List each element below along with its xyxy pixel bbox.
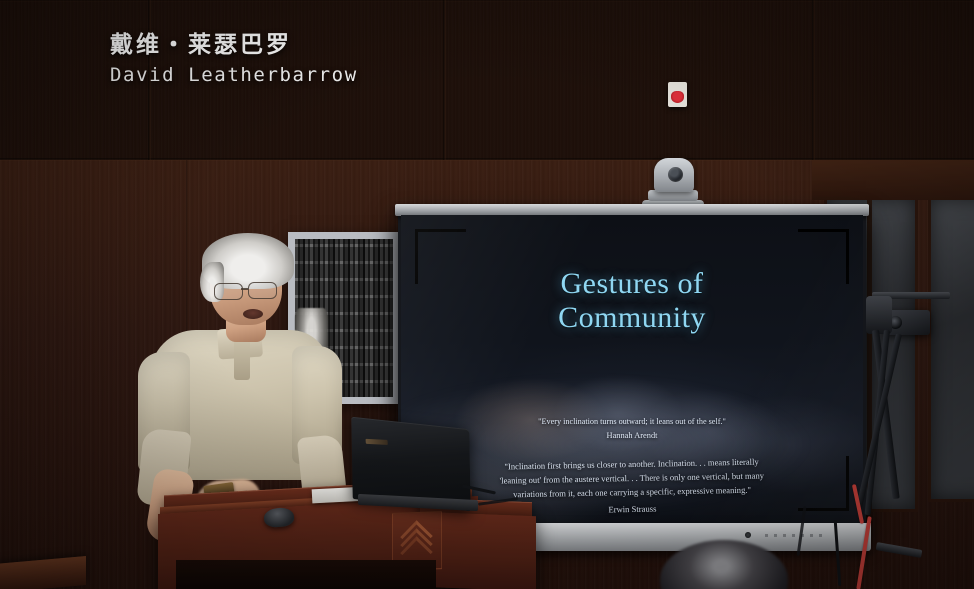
ptz-camera-body: [654, 158, 694, 192]
display-power-button[interactable]: [745, 532, 751, 538]
speaker-name-chinese: 戴维・莱瑟巴罗: [110, 31, 358, 60]
presenter-placket: [234, 340, 250, 380]
alarm-led-icon: [671, 91, 685, 104]
display-speaker-grille: [765, 534, 827, 537]
wall-seam-vertical-mid: [443, 0, 446, 160]
screen-glare: [401, 215, 863, 525]
presenter-glasses-lens-right: [248, 282, 277, 299]
wall-seam-vertical-right: [812, 0, 815, 160]
presenter-glasses-bridge: [241, 288, 248, 290]
presenter-mouth: [243, 309, 263, 319]
wall-alarm-device[interactable]: [668, 82, 687, 107]
wall-seam-top: [0, 0, 974, 2]
glass-door-right: [928, 196, 974, 502]
presenter-glasses-lens-left: [214, 283, 243, 300]
tripod-head: [866, 296, 892, 334]
speaker-name-english: David Leatherbarrow: [110, 64, 358, 86]
ptz-camera-lens-icon: [668, 167, 683, 182]
lecture-photo-scene: Gestures of Community "Every inclination…: [0, 0, 974, 589]
lectern-interior-shadow: [176, 560, 436, 589]
speaker-name-overlay: 戴维・莱瑟巴罗 David Leatherbarrow: [110, 31, 358, 86]
door-header-trim: [812, 160, 974, 200]
display-screen[interactable]: Gestures of Community "Every inclination…: [401, 215, 863, 525]
laptop-brand-logo: [366, 439, 388, 445]
